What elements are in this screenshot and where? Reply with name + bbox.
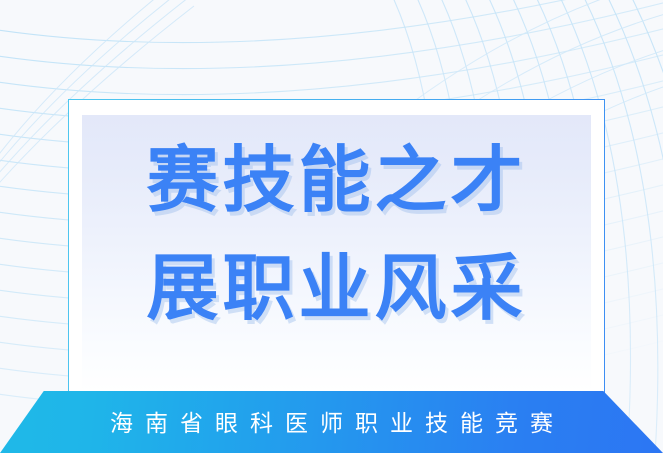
banner-title: 海南省眼科医师职业技能竞赛 xyxy=(0,391,663,453)
headline-line-1: 赛技能之才 xyxy=(82,126,591,234)
poster-canvas: 赛技能之才 展职业风采 海南省眼科医师职业技能竞赛 xyxy=(0,0,663,453)
headline-block: 赛技能之才 展职业风采 xyxy=(82,126,591,342)
headline-line-2: 展职业风采 xyxy=(82,234,591,342)
bottom-banner: 海南省眼科医师职业技能竞赛 xyxy=(0,391,663,453)
